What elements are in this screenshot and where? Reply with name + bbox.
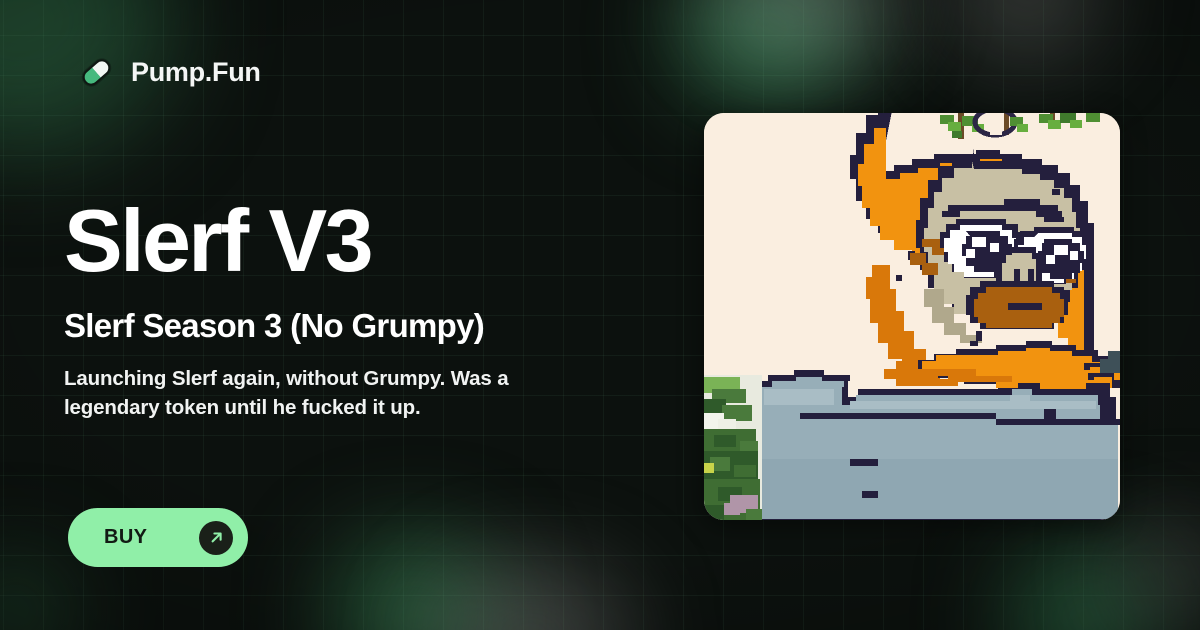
buy-button[interactable]: BUY [68,508,248,567]
page-subtitle: Slerf Season 3 (No Grumpy) [64,307,684,345]
token-artwork-slerf [704,113,1120,520]
page-description: Launching Slerf again, without Grumpy. W… [64,364,609,423]
brand-logo[interactable]: Pump.Fun [76,52,261,92]
foliage-bottom-left [704,375,762,520]
sloth-mouth [966,281,1068,329]
token-artwork-card[interactable] [704,113,1120,520]
page-title: Slerf V3 [64,196,684,286]
hero-text-block: Slerf V3 Slerf Season 3 (No Grumpy) Laun… [64,196,684,423]
buy-button-label: BUY [104,526,147,549]
arrow-up-right-icon [199,521,233,555]
brand-name: Pump.Fun [131,57,261,88]
pill-capsule-icon [76,52,116,92]
